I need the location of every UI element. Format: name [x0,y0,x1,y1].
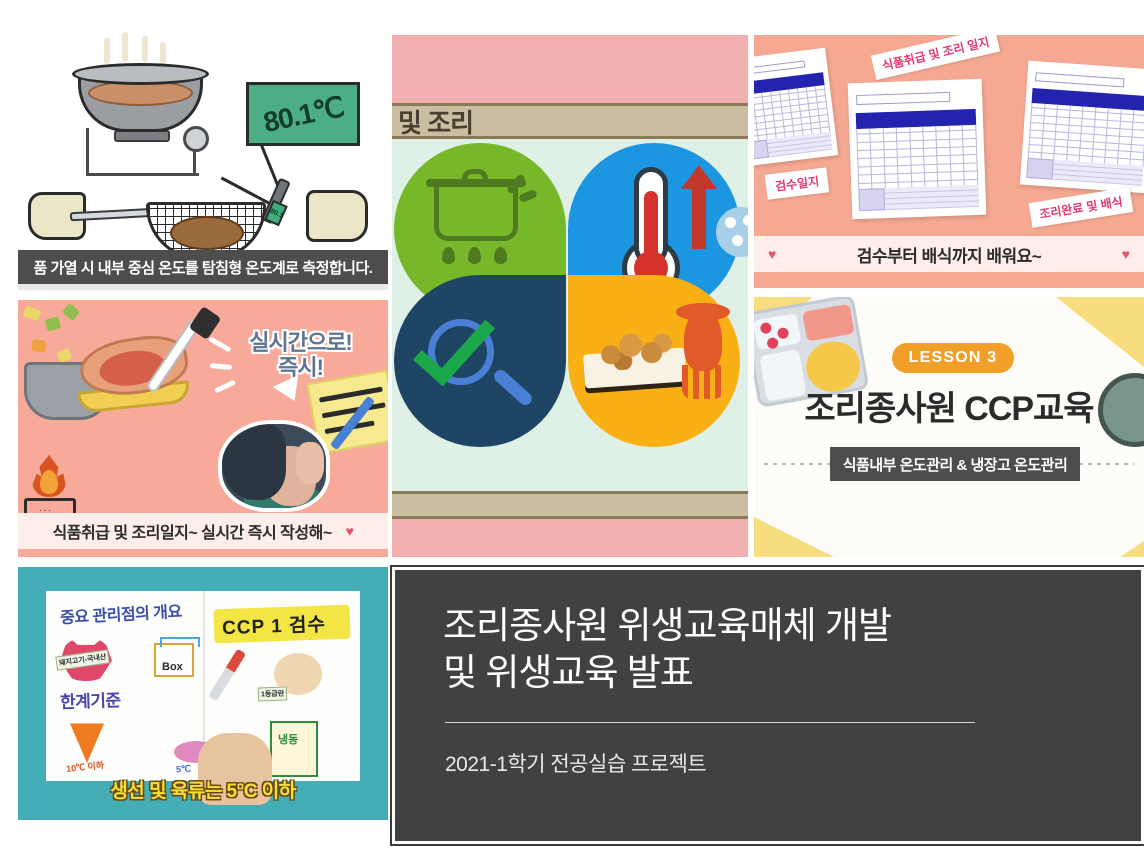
fried-food-icon [593,326,678,372]
form-footer-label [1027,158,1054,180]
thumbnail-caption: 생선 및 육류는 5°C 이하 [18,772,388,806]
person-photo [218,420,330,512]
form-topline [754,60,805,75]
probe-thermometer-icon [208,649,246,702]
speed-line [214,380,236,394]
form-topline [1035,72,1125,87]
pot-rim [72,63,209,85]
ccp-highlight: CCP 1 검수 [213,605,350,644]
steam-wisp-icon [104,38,110,64]
squid-tentacles-icon [682,365,724,399]
heart-icon: ♥ [768,246,776,262]
title-divider [445,722,975,723]
infographic-header-text: 및 조리 [392,103,473,140]
virus-dot [743,215,748,226]
steam-wisp-icon [142,36,148,62]
ccp-label: CCP 1 검수 [222,609,327,640]
presentation-title-panel[interactable]: 조리종사원 위생교육매체 개발 및 위생교육 발표 2021-1학기 전공실습 … [392,567,1144,844]
pot-knob-icon [462,169,488,179]
title-subtitle: 2021-1학기 전공실습 프로젝트 [445,748,706,778]
carrot-illustration [70,717,104,763]
steam-wisp-icon [160,42,166,64]
slide-collage: 80.1℃ 80.1 품 가열 시 내부 중심 온도를 탐침형 온도계로 측정합… [0,0,1144,858]
knob-icon [183,126,209,152]
frozen-package: 냉동 [270,721,318,777]
form-grid [856,125,979,192]
headline-line-1: 실시간으로! [223,330,378,355]
vegetable-piece [56,348,72,363]
callout-reading: 80.1℃ [260,89,346,138]
heart-icon: ♥ [1122,246,1130,262]
title-line-2: 및 위생교육 발표 [443,649,1101,696]
thumbnail-inspection-journals[interactable]: 식품취급 및 조리 일지 검수일지 조리완료 및 배식 ♥ 검수부터 배식까지 … [754,35,1144,288]
tray-cell [802,304,854,342]
corner-accent-triangle [754,517,834,557]
pot-icon [434,187,518,241]
person-hand [296,442,324,484]
quadrant-inspection-check [394,275,566,447]
heart-icon: ♥ [346,523,354,539]
squid-icon [684,311,722,371]
temperature-callout: 80.1℃ [246,82,360,146]
infographic-footer-bar [392,491,748,519]
title-line-1: 조리종사원 위생교육매체 개발 [443,602,1101,649]
thumbnail-cooking-temperature-illustration[interactable]: 80.1℃ 80.1 품 가열 시 내부 중심 온도를 탐침형 온도계로 측정합… [18,30,388,290]
form-footer-label [858,188,886,211]
form-topline [856,92,950,105]
journal-label-left: 검수일지 [765,167,830,199]
food-patty [170,216,244,250]
journal-document [848,79,987,220]
corner-accent-triangle [1056,297,1144,367]
thumbnail-lesson-3-ccp-education[interactable]: LESSON 3 조리종사원 CCP교육 식품내부 온도관리 & 냉장고 온도관… [754,297,1144,557]
corner-accent-triangle [1120,541,1144,557]
thumbnail-realtime-logging-slide[interactable]: 실시간으로! 즉시! ··· FIRE 식품취급 및 조리일지~ 실시간 즉시 … [18,300,388,557]
journal-document [754,48,838,166]
vegetable-piece [31,339,47,353]
infographic-body [392,139,748,491]
thumbnail-caption: 품 가열 시 내부 중심 온도를 탐침형 온도계로 측정합니다. [18,250,388,284]
thumbnail-handmade-ccp-poster[interactable]: 중요 관리점의 개요 CCP 1 검수 돼지고기-국내산 Box 1등급란 한계… [18,567,388,820]
vegetable-piece [45,316,62,331]
journal-label-top: 식품취급 및 조리 일지 [871,35,1001,80]
journal-label-right: 조리완료 및 배식 [1029,187,1134,228]
virus-dot [725,217,736,228]
flame-drop-icon [494,247,507,264]
infographic-header-bar: 및 조리 [392,103,748,139]
journal-document [1020,61,1144,194]
steam-wisp-icon [122,32,128,62]
flame-drop-icon [442,247,455,264]
realtime-headline: 실시간으로! 즉시! [223,330,378,381]
poster-subtitle: 한계기준 [60,686,121,713]
thumbnail-caption: ♥ 검수부터 배식까지 배워요~ ♥ [754,236,1144,272]
vegetable-piece [23,306,42,322]
gloved-hand-right [306,190,368,242]
poster-title: 중요 관리점의 개요 [59,598,182,628]
panel-baseline [18,284,388,290]
thumbnail-four-principle-infographic[interactable]: 및 조리 [392,35,748,557]
form-footer-label [754,140,769,159]
page-title: 조리종사원 위생교육매체 개발 및 위생교육 발표 [443,602,1101,697]
callout-tail [259,143,279,187]
caption-text: 검수부터 배식까지 배워요~ [776,242,1121,267]
caption-text: 식품취급 및 조리일지~ 실시간 즉시 작성해~ [53,519,332,543]
person-hair [222,424,286,500]
box-label: Box [162,661,183,673]
lesson-badge: LESSON 3 [892,343,1014,373]
flame-drop-icon [468,247,481,264]
vegetable-piece [62,303,80,321]
poster-paper: 중요 관리점의 개요 CCP 1 검수 돼지고기-국내산 Box 1등급란 한계… [46,591,360,781]
box-illustration: Box [154,643,194,677]
lesson-subtitle: 식품내부 온도관리 & 냉장고 온도관리 [830,447,1080,481]
lesson-title: 조리종사원 CCP교육 [754,381,1144,430]
flame-core-icon [40,470,58,494]
frozen-label: 냉동 [278,731,298,747]
thumbnail-caption: 식품취급 및 조리일지~ 실시간 즉시 작성해~ ♥ [18,513,388,549]
quadrant-cooked-seafood [568,275,740,447]
arrow-up-icon [692,187,706,249]
virus-dot [732,235,743,246]
egg-tag: 1등급란 [258,686,288,701]
